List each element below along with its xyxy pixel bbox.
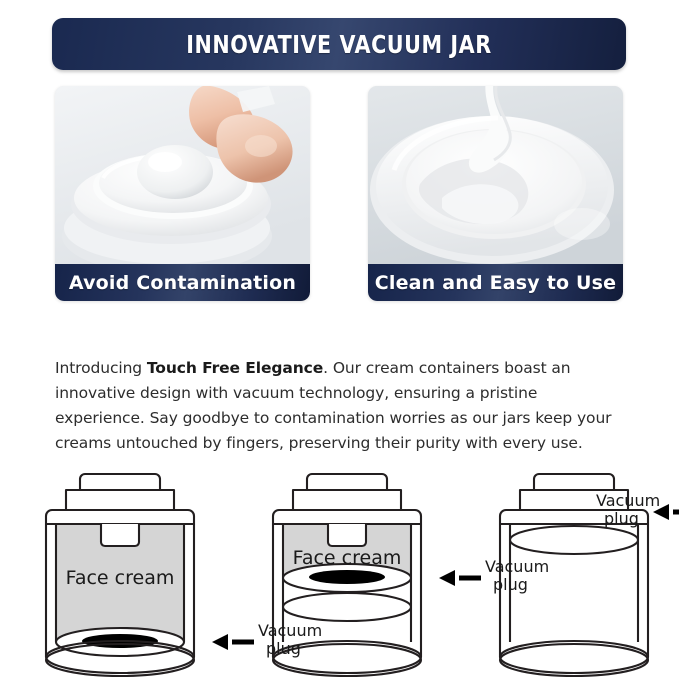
feature-panel-avoid-contamination: Avoid Contamination bbox=[55, 86, 310, 301]
header-banner: INNOVATIVE VACUUM JAR bbox=[52, 18, 626, 70]
panel-caption-label: Clean and Easy to Use bbox=[375, 272, 617, 294]
description-paragraph: Introducing Touch Free Elegance. Our cre… bbox=[55, 356, 630, 456]
cream-pour-illustration bbox=[368, 86, 623, 264]
plug-label-jar-full-line2: plug bbox=[266, 639, 301, 658]
plug-label-jar-half-line1: Vacuum bbox=[485, 557, 549, 576]
feature-panel-clean-and-easy: Clean and Easy to Use bbox=[368, 86, 623, 301]
cream-label-jar-half: Face cream bbox=[293, 547, 402, 569]
panel-caption-label: Avoid Contamination bbox=[69, 272, 296, 294]
jar-lid-illustration bbox=[55, 86, 310, 264]
jar-half-plug-callout bbox=[439, 570, 481, 586]
jar-lid-photo bbox=[55, 86, 310, 264]
panel-caption-bar: Avoid Contamination bbox=[55, 264, 310, 301]
vacuum-jar-diagram: Face cream Face cream Vacuum plug Vacuum… bbox=[0, 452, 679, 679]
plug-label-jar-empty-line2: plug bbox=[604, 509, 639, 528]
cream-pour-photo bbox=[368, 86, 623, 264]
cream-label-jar-full: Face cream bbox=[66, 567, 175, 589]
description-emphasis: Touch Free Elegance bbox=[147, 359, 323, 377]
description-lead: Introducing bbox=[55, 359, 147, 377]
jar-stage-illustration: Face cream Face cream Vacuum plug Vacuum… bbox=[0, 452, 679, 679]
plug-label-jar-half-line2: plug bbox=[493, 575, 528, 594]
plug-label-jar-empty-line1: Vacuum bbox=[596, 491, 660, 510]
jar-full-plug-callout bbox=[212, 634, 254, 650]
panel-caption-bar: Clean and Easy to Use bbox=[368, 264, 623, 301]
plug-label-jar-full-line1: Vacuum bbox=[258, 621, 322, 640]
page-title: INNOVATIVE VACUUM JAR bbox=[186, 30, 491, 59]
